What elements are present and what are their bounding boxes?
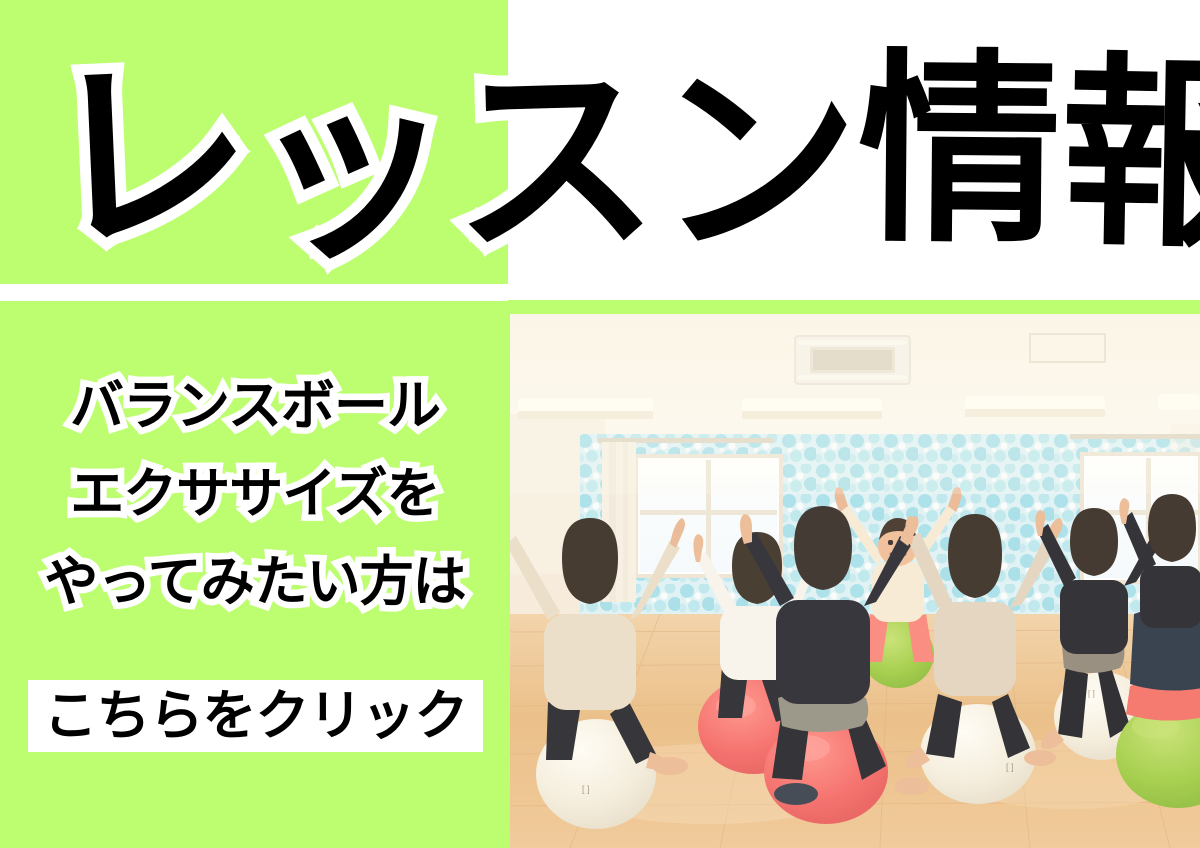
lesson-info-banner: レ ッ ス ン 情 報 バランスボール エクササイズを やってみたい方は こちら… — [0, 0, 1200, 848]
copy-line-2: エクササイズを — [0, 467, 510, 521]
lesson-photo-illustration: [ ] — [510, 314, 1200, 848]
cta-button[interactable]: こちらをクリック — [28, 680, 483, 752]
title-green-backdrop — [0, 0, 508, 284]
title-white-backdrop — [508, 0, 1200, 300]
left-copy-panel: バランスボール エクササイズを やってみたい方は こちらをクリック — [0, 301, 510, 848]
title-green-underbar — [508, 300, 1200, 314]
cta-label: こちらをクリック — [44, 689, 468, 743]
left-white-divider — [0, 284, 508, 301]
copy-block: バランスボール エクササイズを やってみたい方は — [0, 379, 510, 643]
lesson-photo: [ ] — [510, 314, 1200, 848]
copy-line-3: やってみたい方は — [0, 555, 510, 609]
copy-line-1: バランスボール — [0, 379, 510, 433]
